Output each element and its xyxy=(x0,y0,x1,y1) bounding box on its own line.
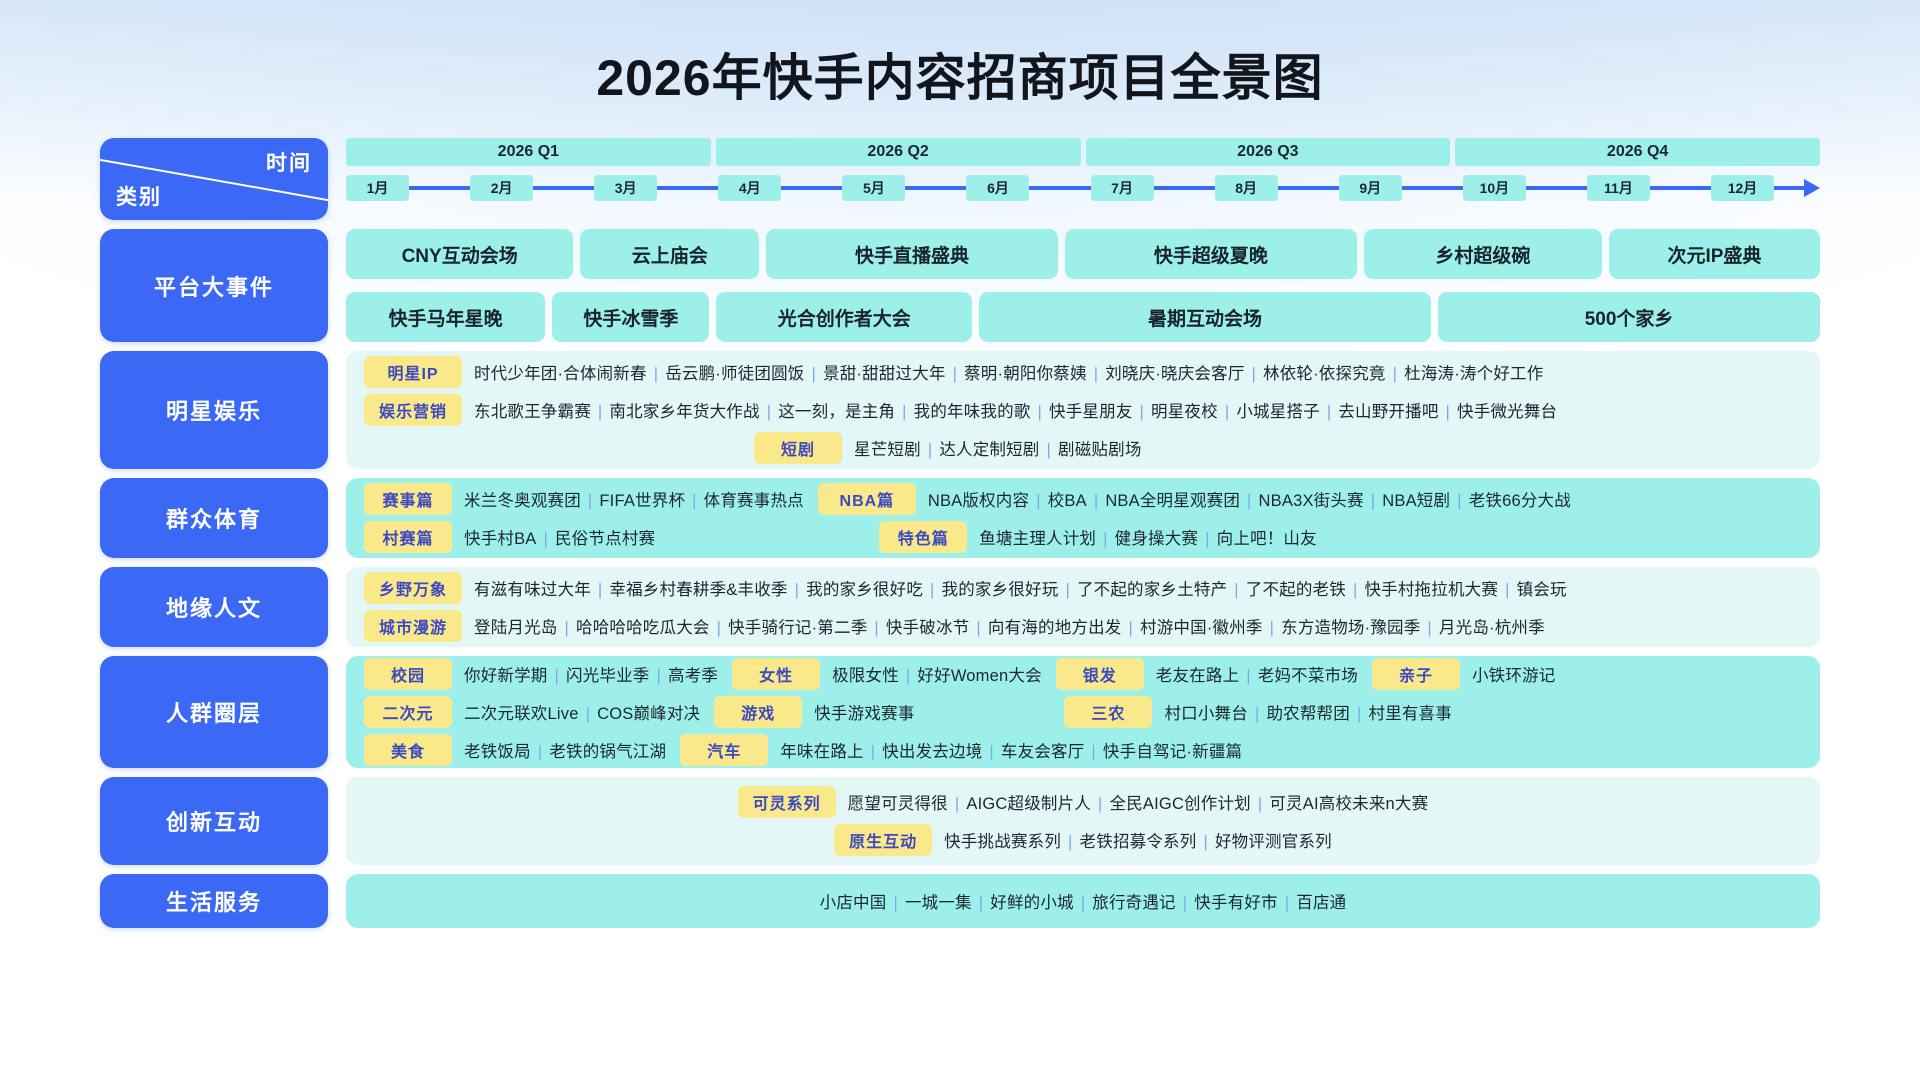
section-tag[interactable]: 三农 xyxy=(1064,696,1152,728)
row-body: 可灵系列愿望可灵得很|AIGC超级制片人|全民AIGC创作计划|可灵AI高校未来… xyxy=(346,777,1820,865)
month-chip: 3月 xyxy=(594,175,657,201)
project-item[interactable]: 好好Women大会 xyxy=(917,667,1041,685)
project-item[interactable]: 健身操大赛 xyxy=(1115,530,1199,548)
section-tag[interactable]: 乡野万象 xyxy=(364,572,462,604)
item-list: NBA版权内容|校BA|NBA全明星观赛团|NBA3X街头赛|NBA短剧|老铁6… xyxy=(928,487,1571,511)
item-separator: | xyxy=(1427,619,1432,637)
item-list: 小铁环游记 xyxy=(1472,662,1556,686)
project-item[interactable]: 快手村拖拉机大赛 xyxy=(1364,581,1498,599)
project-item[interactable]: 好鲜的小城 xyxy=(990,894,1074,912)
event-chip[interactable]: 快手冰雪季 xyxy=(552,292,709,342)
item-separator: | xyxy=(1094,365,1099,383)
arrow-shaft xyxy=(1774,186,1804,190)
project-item[interactable]: 极限女性 xyxy=(832,667,899,685)
content-panel: 赛事篇米兰冬奥观赛团|FIFA世界杯|体育赛事热点NBA篇NBA版权内容|校BA… xyxy=(346,478,1820,558)
category-label-明星娱乐[interactable]: 明星娱乐 xyxy=(100,351,328,469)
content-panel: 可灵系列愿望可灵得很|AIGC超级制片人|全民AIGC创作计划|可灵AI高校未来… xyxy=(346,777,1820,865)
event-chip[interactable]: 乡村超级碗 xyxy=(1364,229,1602,279)
item-list: 老友在路上|老妈不菜市场 xyxy=(1156,662,1358,686)
project-item[interactable]: 刘晓庆·晓庆会客厅 xyxy=(1105,365,1244,383)
project-item[interactable]: 你好新学期 xyxy=(464,667,548,685)
project-item[interactable]: 快手自驾记·新疆篇 xyxy=(1103,743,1242,761)
project-item[interactable]: FIFA世界杯 xyxy=(599,492,685,510)
item-separator: | xyxy=(1065,581,1070,599)
project-item[interactable]: 东方造物场·豫园季 xyxy=(1281,619,1420,637)
project-item[interactable]: 向有海的地方出发 xyxy=(988,619,1122,637)
item-separator: | xyxy=(1225,403,1230,421)
quarter-cell: 2026 Q4 xyxy=(1455,138,1820,166)
project-item[interactable]: 去山野开播吧 xyxy=(1338,403,1438,421)
content-panel: 校园你好新学期|闪光毕业季|高考季女性极限女性|好好Women大会银发老友在路上… xyxy=(346,656,1820,768)
project-item[interactable]: 老铁的锅气江湖 xyxy=(549,743,666,761)
item-separator: | xyxy=(544,530,549,548)
project-item[interactable]: 景甜·甜甜过大年 xyxy=(823,365,946,383)
event-chip[interactable]: 快手超级夏晚 xyxy=(1065,229,1357,279)
project-item[interactable]: 车友会客厅 xyxy=(1001,743,1085,761)
item-separator: | xyxy=(598,581,603,599)
item-separator: | xyxy=(1258,795,1263,813)
project-item[interactable]: 有滋有味过大年 xyxy=(474,581,591,599)
project-item[interactable]: 杜海涛·涛个好工作 xyxy=(1404,365,1543,383)
event-line: 快手马年星晚快手冰雪季光合创作者大会暑期互动会场500个家乡 xyxy=(346,292,1820,342)
row-body: 明星IP时代少年团·合体闹新春|岳云鹏·师徒团圆饭|景甜·甜甜过大年|蔡明·朝阳… xyxy=(346,351,1820,469)
project-item[interactable]: 老妈不菜市场 xyxy=(1258,667,1358,685)
month-chip: 11月 xyxy=(1587,175,1650,201)
project-item[interactable]: 向上吧！山友 xyxy=(1217,530,1317,548)
project-item[interactable]: 我的年味我的歌 xyxy=(914,403,1031,421)
project-item[interactable]: 快手有好市 xyxy=(1194,894,1278,912)
project-item[interactable]: 快手骑行记·第二季 xyxy=(728,619,867,637)
item-list: 你好新学期|闪光毕业季|高考季 xyxy=(464,662,718,686)
section-tag[interactable]: 明星IP xyxy=(364,356,462,388)
item-separator: | xyxy=(588,492,593,510)
item-separator: | xyxy=(598,403,603,421)
header-row: 时间 类别 2026 Q1 2026 Q2 2026 Q3 2026 Q4 1月… xyxy=(100,138,1820,220)
project-item[interactable]: 一城一集 xyxy=(905,894,972,912)
content-line: 原生互动快手挑战赛系列|老铁招募令系列|好物评测官系列 xyxy=(364,824,1802,856)
row-body: CNY互动会场云上庙会快手直播盛典快手超级夏晚乡村超级碗次元IP盛典快手马年星晚… xyxy=(346,229,1820,342)
project-item[interactable]: 快手村BA xyxy=(464,530,537,548)
quarter-cell: 2026 Q1 xyxy=(346,138,711,166)
content-line: 城市漫游登陆月光岛|哈哈哈哈吃瓜大会|快手骑行记·第二季|快手破冰节|向有海的地… xyxy=(364,610,1802,642)
item-separator: | xyxy=(1357,705,1362,723)
project-item[interactable]: 蔡明·朝阳你蔡姨 xyxy=(964,365,1087,383)
quarter-row: 2026 Q1 2026 Q2 2026 Q3 2026 Q4 xyxy=(346,138,1820,166)
content-panel: 乡野万象有滋有味过大年|幸福乡村春耕季&丰收季|我的家乡很好吃|我的家乡很好玩|… xyxy=(346,567,1820,647)
project-item[interactable]: 鱼塘主理人计划 xyxy=(979,530,1096,548)
event-chip[interactable]: 快手直播盛典 xyxy=(766,229,1058,279)
item-separator: | xyxy=(902,403,907,421)
event-chip[interactable]: 快手马年星晚 xyxy=(346,292,545,342)
category-label-群众体育[interactable]: 群众体育 xyxy=(100,478,328,558)
item-separator: | xyxy=(1393,365,1398,383)
month-chip: 6月 xyxy=(966,175,1029,201)
item-list: 有滋有味过大年|幸福乡村春耕季&丰收季|我的家乡很好吃|我的家乡很好玩|了不起的… xyxy=(474,576,1567,600)
section-tag[interactable]: 游戏 xyxy=(714,696,802,728)
month-chip: 5月 xyxy=(842,175,905,201)
item-separator: | xyxy=(1038,403,1043,421)
item-list: 登陆月光岛|哈哈哈哈吃瓜大会|快手骑行记·第二季|快手破冰节|向有海的地方出发|… xyxy=(474,614,1545,638)
item-separator: | xyxy=(1327,403,1332,421)
item-list: 年味在路上|快出发去边境|车友会客厅|快手自驾记·新疆篇 xyxy=(780,738,1242,762)
item-separator: | xyxy=(1234,581,1239,599)
project-item[interactable]: 村口小舞台 xyxy=(1164,705,1248,723)
page-title-wrap: 2026年快手内容招商项目全景图 xyxy=(0,38,1920,110)
month-chip: 8月 xyxy=(1215,175,1278,201)
project-item[interactable]: 高考季 xyxy=(668,667,718,685)
project-item[interactable]: 校BA xyxy=(1048,492,1087,510)
project-item[interactable]: 小店中国 xyxy=(820,894,887,912)
event-line: CNY互动会场云上庙会快手直播盛典快手超级夏晚乡村超级碗次元IP盛典 xyxy=(346,229,1820,279)
item-separator: | xyxy=(1371,492,1376,510)
section-tag[interactable]: 校园 xyxy=(364,658,452,690)
item-separator: | xyxy=(955,795,960,813)
item-separator: | xyxy=(1140,403,1145,421)
category-label-创新互动[interactable]: 创新互动 xyxy=(100,777,328,865)
category-time-header-cell: 时间 类别 xyxy=(100,138,328,220)
category-row: 人群圈层校园你好新学期|闪光毕业季|高考季女性极限女性|好好Women大会银发老… xyxy=(100,656,1820,768)
item-separator: | xyxy=(989,743,994,761)
project-item[interactable]: 岳云鹏·师徒团圆饭 xyxy=(665,365,804,383)
page-title: 2026年快手内容招商项目全景图 xyxy=(0,38,1920,110)
category-row: 地缘人文乡野万象有滋有味过大年|幸福乡村春耕季&丰收季|我的家乡很好吃|我的家乡… xyxy=(100,567,1820,647)
month-chip: 2月 xyxy=(470,175,533,201)
item-separator: | xyxy=(586,705,591,723)
item-separator: | xyxy=(1103,530,1108,548)
item-separator: | xyxy=(565,619,570,637)
project-item[interactable]: 闪光毕业季 xyxy=(566,667,650,685)
item-separator: | xyxy=(795,581,800,599)
category-row: 创新互动可灵系列愿望可灵得很|AIGC超级制片人|全民AIGC创作计划|可灵AI… xyxy=(100,777,1820,865)
project-item[interactable]: 小城星搭子 xyxy=(1236,403,1320,421)
month-connector xyxy=(1526,186,1587,190)
project-item[interactable]: 体育赛事热点 xyxy=(704,492,804,510)
item-list: 鱼塘主理人计划|健身操大赛|向上吧！山友 xyxy=(979,525,1317,549)
month-connector xyxy=(1154,186,1215,190)
month-connector xyxy=(1278,186,1339,190)
project-item[interactable]: 东北歌王争霸赛 xyxy=(474,403,591,421)
event-chip[interactable]: 次元IP盛典 xyxy=(1609,229,1820,279)
item-separator: | xyxy=(1285,894,1290,912)
project-item[interactable]: 我的家乡很好玩 xyxy=(942,581,1059,599)
project-item[interactable]: 好物评测官系列 xyxy=(1215,833,1332,851)
section-tag[interactable]: 特色篇 xyxy=(879,521,967,553)
project-item[interactable]: 小铁环游记 xyxy=(1472,667,1556,685)
month-connector xyxy=(1650,186,1711,190)
section-tag[interactable]: 可灵系列 xyxy=(738,786,836,818)
project-item[interactable]: 可灵AI高校未来n大赛 xyxy=(1269,795,1428,813)
category-label-人群圈层[interactable]: 人群圈层 xyxy=(100,656,328,768)
project-item[interactable]: 快手游戏赛事 xyxy=(814,705,914,723)
item-separator: | xyxy=(874,619,879,637)
section-tag[interactable]: 美食 xyxy=(364,734,452,766)
section-tag[interactable]: 娱乐营销 xyxy=(364,394,462,426)
category-row: 生活服务小店中国|一城一集|好鲜的小城|旅行奇遇记|快手有好市|百店通 xyxy=(100,874,1820,928)
month-chip: 9月 xyxy=(1339,175,1402,201)
content-line: 短剧星芒短剧|达人定制短剧|剧磁贴剧场 xyxy=(364,432,1802,464)
content-line: 赛事篇米兰冬奥观赛团|FIFA世界杯|体育赛事热点NBA篇NBA版权内容|校BA… xyxy=(364,483,1802,515)
item-separator: | xyxy=(930,581,935,599)
project-item[interactable]: 村游中国·徽州季 xyxy=(1140,619,1263,637)
item-list: 快手挑战赛系列|老铁招募令系列|好物评测官系列 xyxy=(944,828,1332,852)
section-tag[interactable]: 女性 xyxy=(732,658,820,690)
project-item[interactable]: AIGC超级制片人 xyxy=(966,795,1091,813)
timeline-grid: 时间 类别 2026 Q1 2026 Q2 2026 Q3 2026 Q4 1月… xyxy=(100,138,1820,937)
content-line: 美食老铁饭局|老铁的锅气江湖汽车年味在路上|快出发去边境|车友会客厅|快手自驾记… xyxy=(364,734,1802,766)
item-separator: | xyxy=(657,667,662,685)
rows-host: 平台大事件CNY互动会场云上庙会快手直播盛典快手超级夏晚乡村超级碗次元IP盛典快… xyxy=(100,229,1820,928)
quarter-cell: 2026 Q3 xyxy=(1086,138,1451,166)
section-tag[interactable]: 汽车 xyxy=(680,734,768,766)
project-item[interactable]: COS巅峰对决 xyxy=(597,705,700,723)
item-separator: | xyxy=(1094,492,1099,510)
item-separator: | xyxy=(928,441,933,459)
section-tag[interactable]: 短剧 xyxy=(754,432,842,464)
project-item[interactable]: 幸福乡村春耕季&丰收季 xyxy=(609,581,787,599)
project-item[interactable]: 这一刻，是主角 xyxy=(778,403,895,421)
item-list: 星芒短剧|达人定制短剧|剧磁贴剧场 xyxy=(854,436,1142,460)
category-row: 平台大事件CNY互动会场云上庙会快手直播盛典快手超级夏晚乡村超级碗次元IP盛典快… xyxy=(100,229,1820,342)
month-chip: 1月 xyxy=(346,175,409,201)
item-separator: | xyxy=(979,894,984,912)
project-item[interactable]: 月光岛·杭州季 xyxy=(1439,619,1545,637)
project-item[interactable]: 林依轮·依探究竟 xyxy=(1263,365,1386,383)
item-list: 村口小舞台|助农帮帮团|村里有喜事 xyxy=(1164,700,1452,724)
section-tag[interactable]: 原生互动 xyxy=(834,824,932,856)
project-item[interactable]: 时代少年团·合体闹新春 xyxy=(474,365,647,383)
item-separator: | xyxy=(1446,403,1451,421)
project-item[interactable]: 老铁66分大战 xyxy=(1469,492,1571,510)
category-label-地缘人文[interactable]: 地缘人文 xyxy=(100,567,328,647)
item-separator: | xyxy=(893,894,898,912)
project-item[interactable]: 老友在路上 xyxy=(1156,667,1240,685)
project-item[interactable]: 哈哈哈哈吃瓜大会 xyxy=(576,619,710,637)
project-item[interactable]: 老铁饭局 xyxy=(464,743,531,761)
project-item[interactable]: 快手微光舞台 xyxy=(1457,403,1557,421)
month-chip: 7月 xyxy=(1091,175,1154,201)
row-body: 乡野万象有滋有味过大年|幸福乡村春耕季&丰收季|我的家乡很好吃|我的家乡很好玩|… xyxy=(346,567,1820,647)
item-separator: | xyxy=(1081,894,1086,912)
poster-root: 2026年快手内容招商项目全景图 时间 类别 2026 Q1 2026 Q2 2… xyxy=(0,0,1920,1079)
item-separator: | xyxy=(953,365,958,383)
item-list: 米兰冬奥观赛团|FIFA世界杯|体育赛事热点 xyxy=(464,487,804,511)
project-item[interactable]: 达人定制短剧 xyxy=(939,441,1039,459)
project-item[interactable]: NBA版权内容 xyxy=(928,492,1029,510)
item-list: 愿望可灵得很|AIGC超级制片人|全民AIGC创作计划|可灵AI高校未来n大赛 xyxy=(848,790,1429,814)
project-item[interactable]: 剧磁贴剧场 xyxy=(1058,441,1142,459)
section-tag[interactable]: NBA篇 xyxy=(818,483,916,515)
content-panel: 明星IP时代少年团·合体闹新春|岳云鹏·师徒团圆饭|景甜·甜甜过大年|蔡明·朝阳… xyxy=(346,351,1820,469)
event-chip[interactable]: 光合创作者大会 xyxy=(716,292,971,342)
item-separator: | xyxy=(1047,441,1052,459)
content-line: 可灵系列愿望可灵得很|AIGC超级制片人|全民AIGC创作计划|可灵AI高校未来… xyxy=(364,786,1802,818)
item-separator: | xyxy=(1068,833,1073,851)
category-row: 群众体育赛事篇米兰冬奥观赛团|FIFA世界杯|体育赛事热点NBA篇NBA版权内容… xyxy=(100,478,1820,558)
item-separator: | xyxy=(654,365,659,383)
item-list: 二次元联欢Live|COS巅峰对决 xyxy=(464,700,700,724)
project-item[interactable]: 星芒短剧 xyxy=(854,441,921,459)
item-separator: | xyxy=(1270,619,1275,637)
project-item[interactable]: 助农帮帮团 xyxy=(1266,705,1350,723)
item-separator: | xyxy=(906,667,911,685)
event-chip[interactable]: 暑期互动会场 xyxy=(979,292,1431,342)
month-connector xyxy=(905,186,966,190)
section-tag[interactable]: 二次元 xyxy=(364,696,452,728)
item-separator: | xyxy=(1098,795,1103,813)
item-separator: | xyxy=(1353,581,1358,599)
section-tag[interactable]: 村赛篇 xyxy=(364,521,452,553)
project-item[interactable]: 镇会玩 xyxy=(1517,581,1567,599)
item-separator: | xyxy=(1183,894,1188,912)
item-list: 快手村BA|民俗节点村赛 xyxy=(464,525,655,549)
project-item[interactable]: 民俗节点村赛 xyxy=(555,530,655,548)
arrow-head-icon xyxy=(1804,179,1820,197)
project-item[interactable]: 愿望可灵得很 xyxy=(848,795,948,813)
project-item[interactable]: 快手星朋友 xyxy=(1049,403,1133,421)
item-separator: | xyxy=(1205,530,1210,548)
project-item[interactable]: 老铁招募令系列 xyxy=(1080,833,1197,851)
item-list: 小店中国|一城一集|好鲜的小城|旅行奇遇记|快手有好市|百店通 xyxy=(820,889,1347,913)
header-body: 2026 Q1 2026 Q2 2026 Q3 2026 Q4 1月 2月 3月… xyxy=(346,138,1820,220)
item-separator: | xyxy=(1252,365,1257,383)
item-separator: | xyxy=(1247,492,1252,510)
item-separator: | xyxy=(1091,743,1096,761)
section-tag[interactable]: 城市漫游 xyxy=(364,610,462,642)
month-connector xyxy=(657,186,718,190)
project-item[interactable]: 村里有喜事 xyxy=(1368,705,1452,723)
row-body: 赛事篇米兰冬奥观赛团|FIFA世界杯|体育赛事热点NBA篇NBA版权内容|校BA… xyxy=(346,478,1820,558)
project-item[interactable]: 百店通 xyxy=(1296,894,1346,912)
item-separator: | xyxy=(692,492,697,510)
item-separator: | xyxy=(1203,833,1208,851)
content-line: 明星IP时代少年团·合体闹新春|岳云鹏·师徒团圆饭|景甜·甜甜过大年|蔡明·朝阳… xyxy=(364,356,1802,388)
item-list: 时代少年团·合体闹新春|岳云鹏·师徒团圆饭|景甜·甜甜过大年|蔡明·朝阳你蔡姨|… xyxy=(474,360,1543,384)
project-item[interactable]: 米兰冬奥观赛团 xyxy=(464,492,581,510)
item-separator: | xyxy=(1457,492,1462,510)
project-item[interactable]: 快出发去边境 xyxy=(882,743,982,761)
item-separator: | xyxy=(555,667,560,685)
section-tag[interactable]: 赛事篇 xyxy=(364,483,452,515)
project-item[interactable]: 快手破冰节 xyxy=(886,619,970,637)
timeline-arrow xyxy=(1774,179,1820,197)
project-item[interactable]: 全民AIGC创作计划 xyxy=(1110,795,1251,813)
content-panel: 小店中国|一城一集|好鲜的小城|旅行奇遇记|快手有好市|百店通 xyxy=(346,874,1820,928)
category-label-平台大事件[interactable]: 平台大事件 xyxy=(100,229,328,342)
row-body: 小店中国|一城一集|好鲜的小城|旅行奇遇记|快手有好市|百店通 xyxy=(346,874,1820,928)
item-list: 快手游戏赛事 xyxy=(814,700,914,724)
item-list: 老铁饭局|老铁的锅气江湖 xyxy=(464,738,666,762)
project-item[interactable]: 了不起的老铁 xyxy=(1246,581,1346,599)
project-item[interactable]: 快手挑战赛系列 xyxy=(944,833,1061,851)
item-separator: | xyxy=(1246,667,1251,685)
item-separator: | xyxy=(767,403,772,421)
month-connector xyxy=(781,186,842,190)
item-list: 东北歌王争霸赛|南北家乡年货大作战|这一刻，是主角|我的年味我的歌|快手星朋友|… xyxy=(474,398,1557,422)
section-tag[interactable]: 银发 xyxy=(1056,658,1144,690)
month-connector xyxy=(1402,186,1463,190)
month-connector xyxy=(533,186,594,190)
content-line: 二次元二次元联欢Live|COS巅峰对决游戏快手游戏赛事三农村口小舞台|助农帮帮… xyxy=(364,696,1802,728)
event-chip[interactable]: 500个家乡 xyxy=(1438,292,1820,342)
category-row: 明星娱乐明星IP时代少年团·合体闹新春|岳云鹏·师徒团圆饭|景甜·甜甜过大年|蔡… xyxy=(100,351,1820,469)
project-item[interactable]: 二次元联欢Live xyxy=(464,705,579,723)
section-tag[interactable]: 亲子 xyxy=(1372,658,1460,690)
item-separator: | xyxy=(812,365,817,383)
content-line: 乡野万象有滋有味过大年|幸福乡村春耕季&丰收季|我的家乡很好吃|我的家乡很好玩|… xyxy=(364,572,1802,604)
month-row: 1月 2月 3月 4月 5月 6月 7月 8月 9月 xyxy=(346,175,1820,201)
item-separator: | xyxy=(871,743,876,761)
event-chip[interactable]: CNY互动会场 xyxy=(346,229,573,279)
project-item[interactable]: 年味在路上 xyxy=(780,743,864,761)
project-item[interactable]: 南北家乡年货大作战 xyxy=(609,403,759,421)
project-item[interactable]: NBA全明星观赛团 xyxy=(1105,492,1240,510)
project-item[interactable]: NBA3X街头赛 xyxy=(1259,492,1364,510)
project-item[interactable]: 明星夜校 xyxy=(1151,403,1218,421)
category-axis-label: 类别 xyxy=(116,181,162,211)
project-item[interactable]: 了不起的家乡土特产 xyxy=(1077,581,1227,599)
item-separator: | xyxy=(1505,581,1510,599)
project-item[interactable]: 登陆月光岛 xyxy=(474,619,558,637)
item-separator: | xyxy=(976,619,981,637)
month-chip: 4月 xyxy=(718,175,781,201)
month-connector xyxy=(409,186,470,190)
project-item[interactable]: 我的家乡很好吃 xyxy=(806,581,923,599)
item-list: 极限女性|好好Women大会 xyxy=(832,662,1042,686)
month-chip: 12月 xyxy=(1711,175,1774,201)
item-separator: | xyxy=(1036,492,1041,510)
project-item[interactable]: NBA短剧 xyxy=(1382,492,1450,510)
content-line: 校园你好新学期|闪光毕业季|高考季女性极限女性|好好Women大会银发老友在路上… xyxy=(364,658,1802,690)
month-connector xyxy=(1029,186,1090,190)
item-separator: | xyxy=(538,743,543,761)
content-line: 娱乐营销东北歌王争霸赛|南北家乡年货大作战|这一刻，是主角|我的年味我的歌|快手… xyxy=(364,394,1802,426)
item-separator: | xyxy=(717,619,722,637)
category-label-生活服务[interactable]: 生活服务 xyxy=(100,874,328,928)
row-body: 校园你好新学期|闪光毕业季|高考季女性极限女性|好好Women大会银发老友在路上… xyxy=(346,656,1820,768)
item-separator: | xyxy=(1129,619,1134,637)
content-line: 小店中国|一城一集|好鲜的小城|旅行奇遇记|快手有好市|百店通 xyxy=(364,885,1802,917)
quarter-cell: 2026 Q2 xyxy=(716,138,1081,166)
content-line: 村赛篇快手村BA|民俗节点村赛特色篇鱼塘主理人计划|健身操大赛|向上吧！山友 xyxy=(364,521,1802,553)
event-chip[interactable]: 云上庙会 xyxy=(580,229,759,279)
time-axis-label: 时间 xyxy=(266,147,312,177)
month-chip: 10月 xyxy=(1463,175,1526,201)
item-separator: | xyxy=(1255,705,1260,723)
project-item[interactable]: 旅行奇遇记 xyxy=(1092,894,1176,912)
